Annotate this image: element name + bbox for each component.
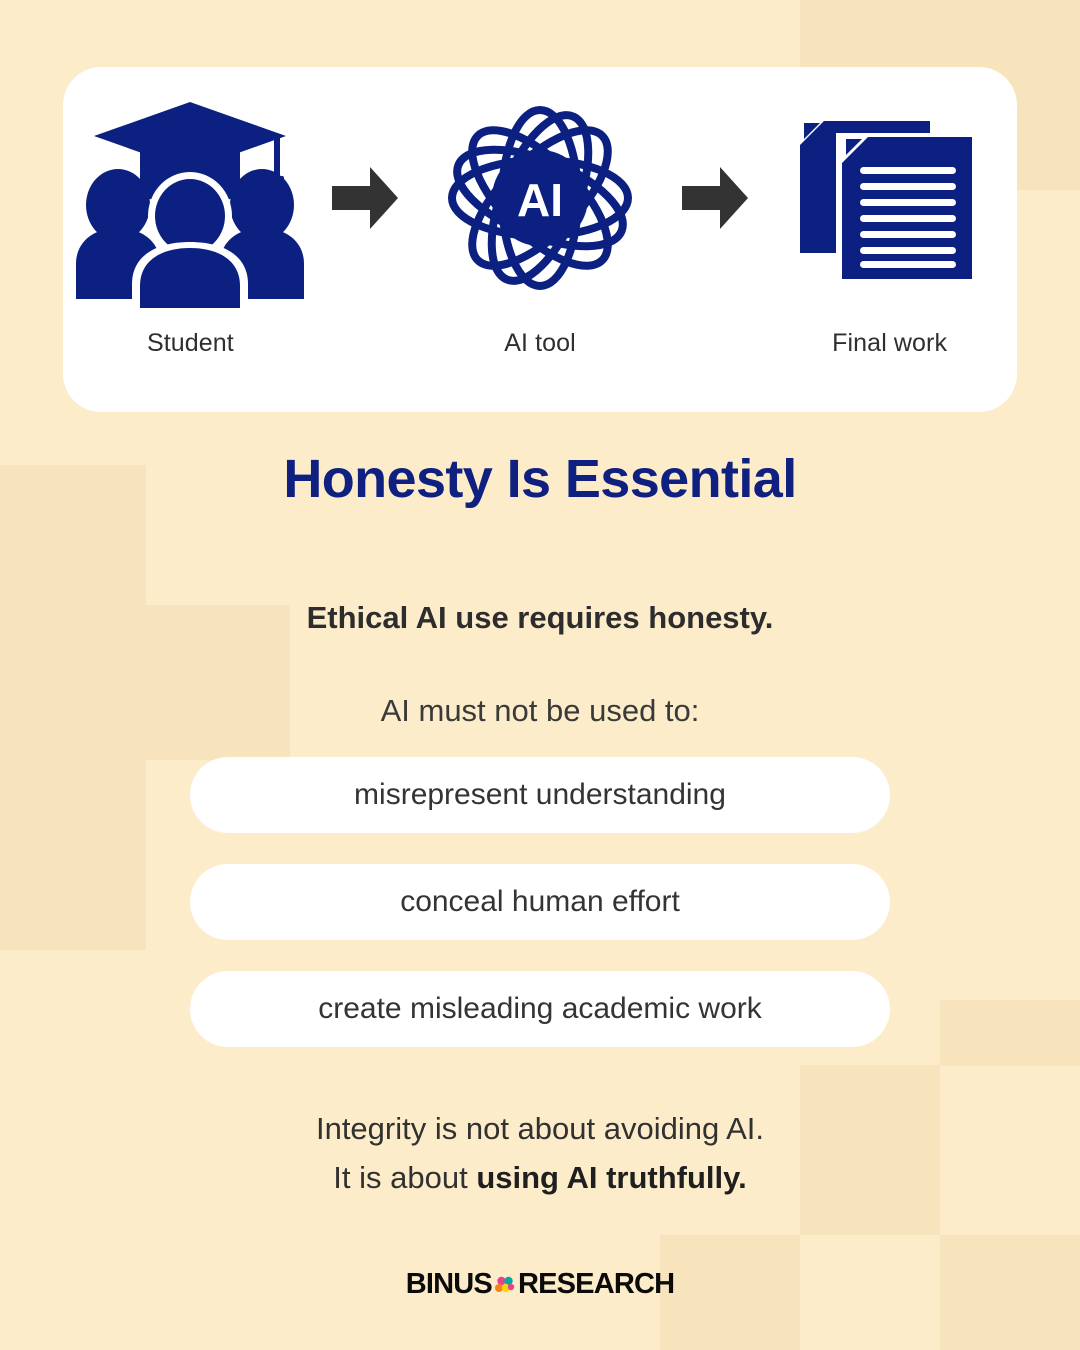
process-labels: Student AI tool Final work <box>63 329 1017 391</box>
process-label-final-work: Final work <box>762 329 1017 358</box>
arrow-right-icon <box>678 161 752 235</box>
process-label-student: Student <box>63 329 318 358</box>
closing-line-1: Integrity is not about avoiding AI. <box>316 1111 764 1146</box>
prohibition-list: misrepresent understanding conceal human… <box>190 757 890 1078</box>
arrow-right-icon <box>328 161 402 235</box>
ai-atom-label: AI <box>517 174 563 226</box>
closing-statement: Integrity is not about avoiding AI. It i… <box>0 1104 1080 1202</box>
list-item: conceal human effort <box>190 864 890 940</box>
process-flow: AI <box>63 67 1017 329</box>
process-step-final-work <box>762 78 1017 318</box>
process-connector-2 <box>667 78 762 318</box>
bg-tile <box>940 1000 1080 1066</box>
process-step-ai-tool: AI <box>413 78 668 318</box>
closing-line-2-prefix: It is about <box>333 1160 476 1195</box>
list-item: misrepresent understanding <box>190 757 890 833</box>
sub-lede-text: AI must not be used to: <box>0 693 1080 729</box>
documents-stack-icon <box>790 103 990 293</box>
binus-research-mark-icon <box>494 1274 516 1296</box>
process-label-ai-tool: AI tool <box>413 329 668 358</box>
page-title: Honesty Is Essential <box>0 448 1080 510</box>
brand-primary-text: BINUS <box>406 1268 492 1301</box>
closing-line-2-emphasis: using AI truthfully. <box>476 1160 746 1195</box>
students-graduation-cap-icon <box>70 88 310 308</box>
brand-logo: BINUS RESEARCH <box>0 1268 1080 1301</box>
bg-tile <box>800 0 952 72</box>
list-item: create misleading academic work <box>190 971 890 1047</box>
bg-tile <box>0 760 146 950</box>
poster-canvas: AI <box>0 0 1080 1350</box>
lede-text: Ethical AI use requires honesty. <box>0 600 1080 636</box>
ai-atom-icon: AI <box>445 103 635 293</box>
process-connector-1 <box>318 78 413 318</box>
process-card: AI <box>63 67 1017 412</box>
brand-secondary-text: RESEARCH <box>518 1268 674 1301</box>
process-step-student <box>63 78 318 318</box>
